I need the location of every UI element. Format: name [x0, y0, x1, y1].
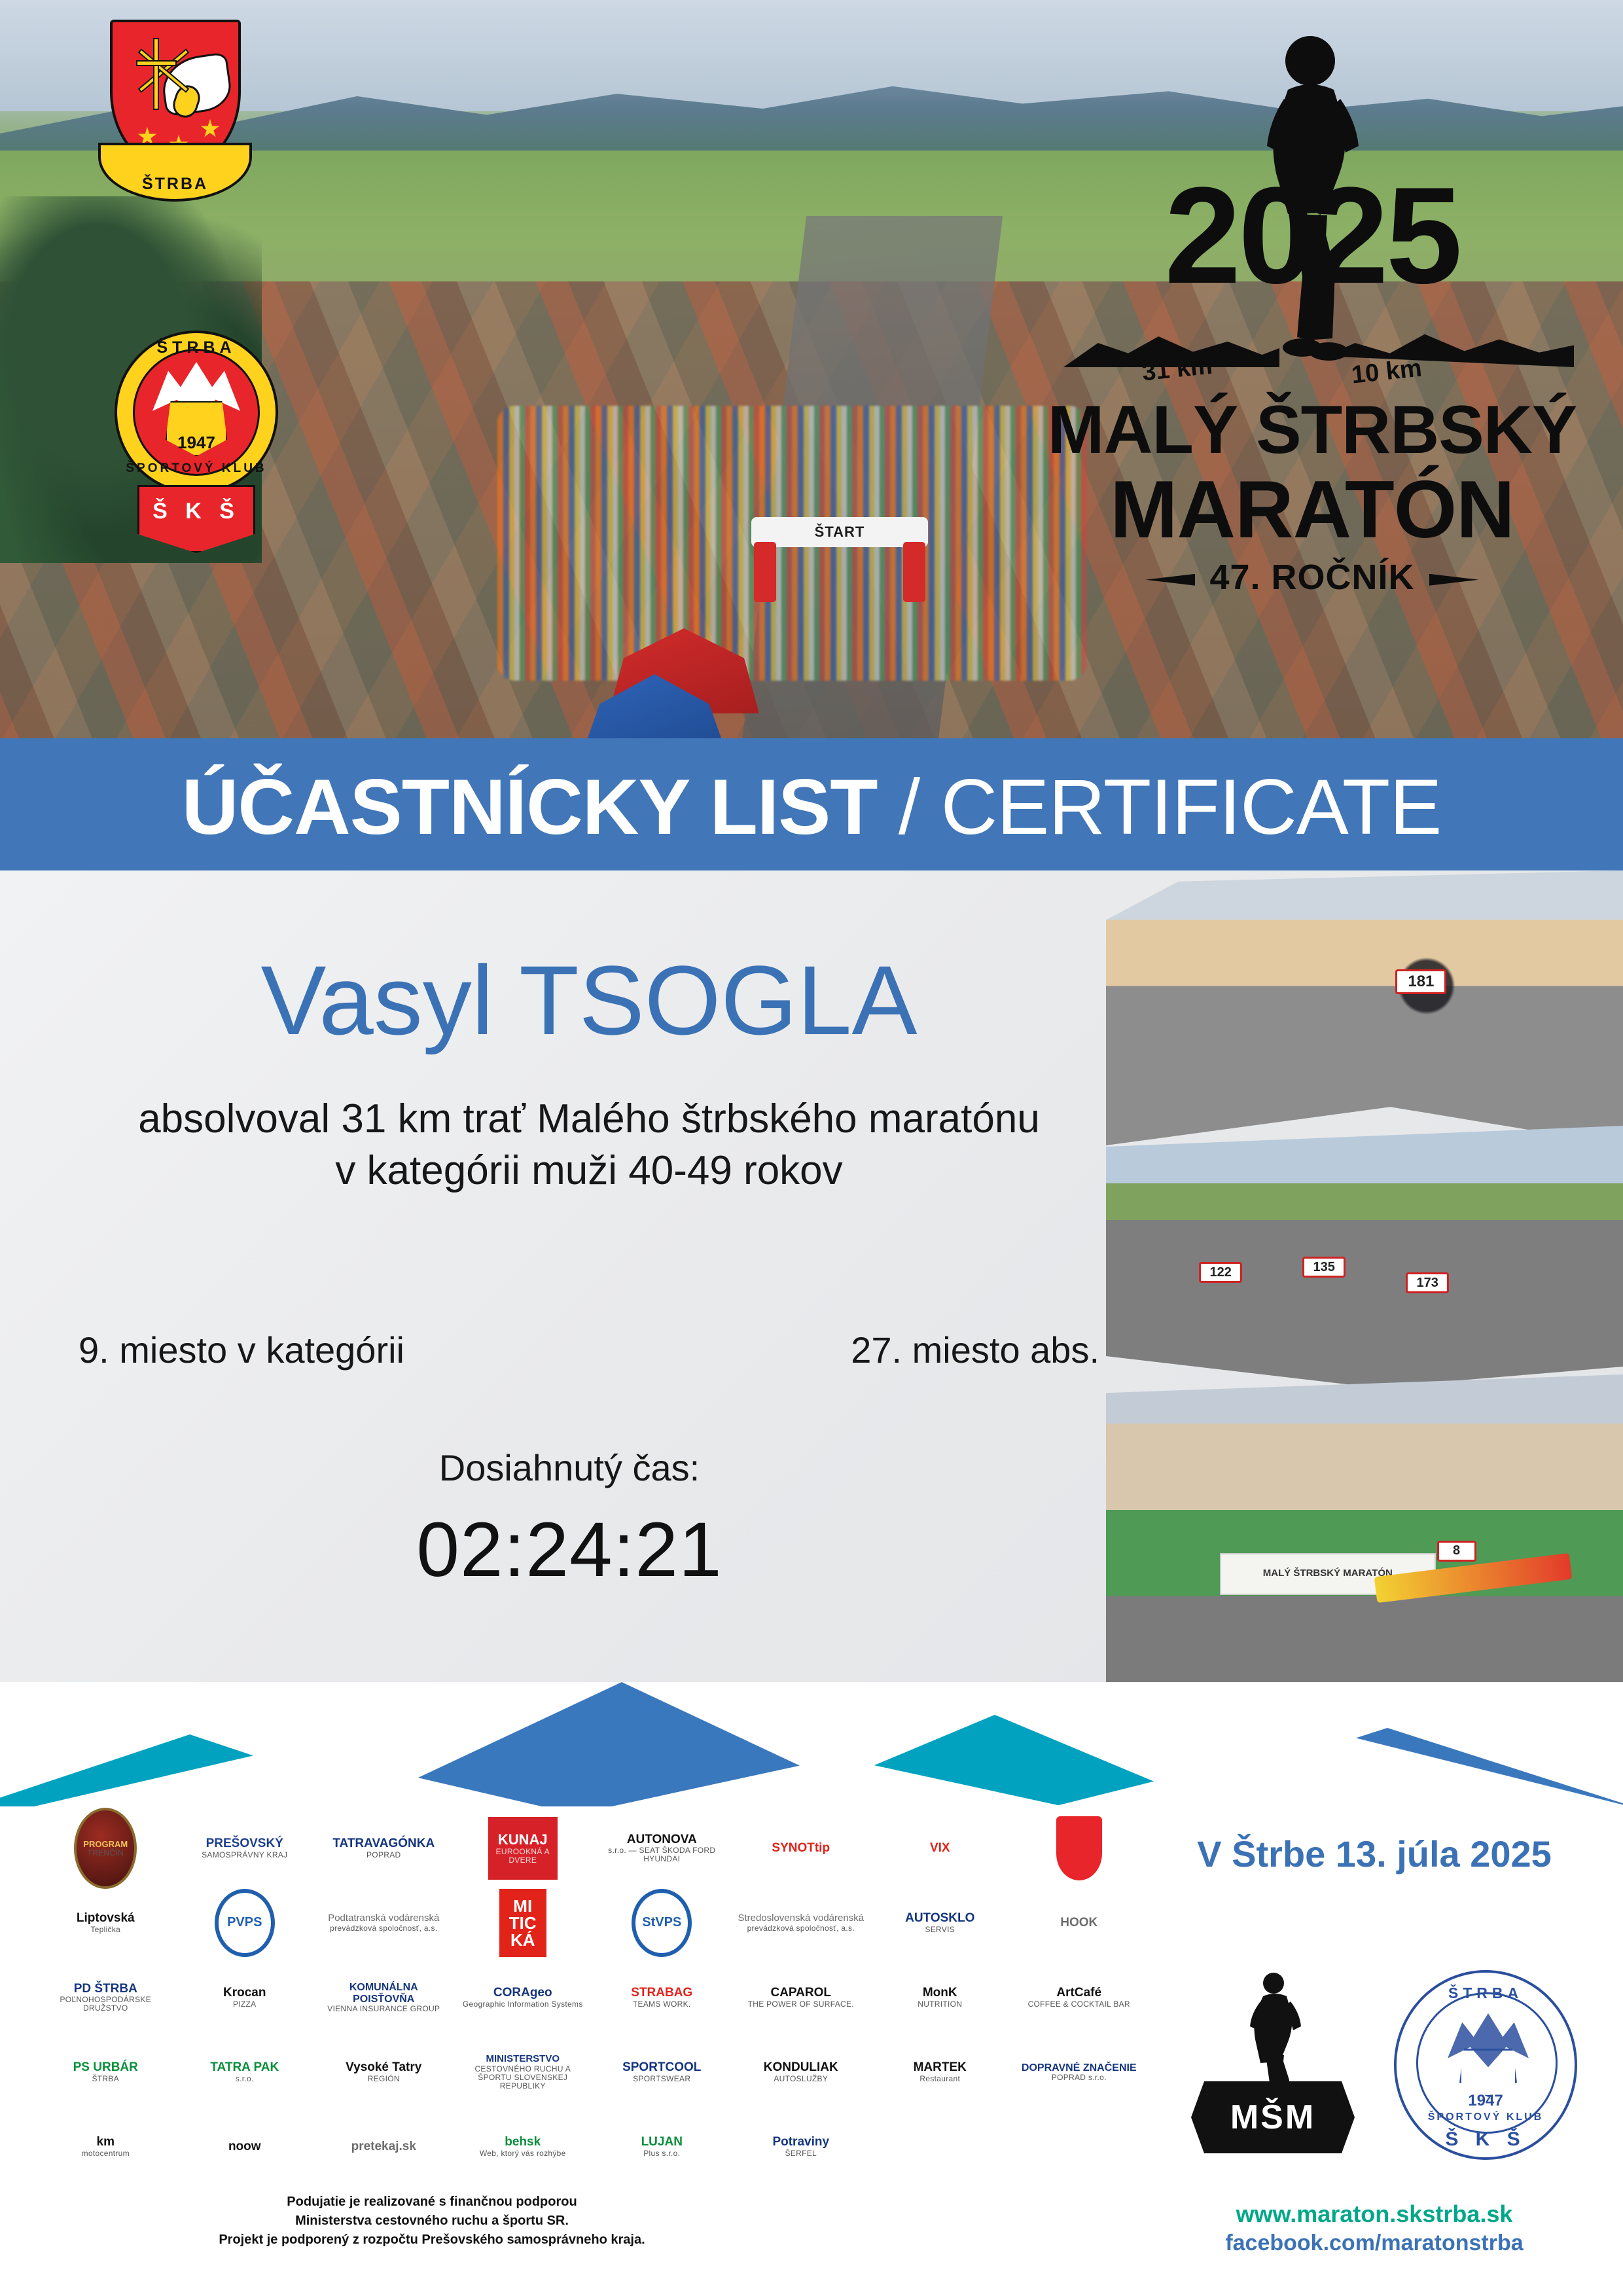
sponsor-logo: CORAgeoGeographic Information Systems	[461, 1985, 584, 2009]
sponsor-name: MonK	[923, 1986, 957, 2000]
sports-club-crest: ŠTRBA 1947 ŠPORTOVÝ KLUB Š K Š	[101, 331, 291, 592]
sponsor-name: MINISTERSTVO	[486, 2053, 560, 2064]
sponsor-name: VIX	[930, 1842, 950, 1856]
certificate-description-line1: absolvoval 31 km trať Malého štrbského m…	[59, 1093, 1119, 1145]
event-name-line2: MARATÓN	[1037, 469, 1587, 550]
sponsor-name: KOMUNÁLNA POISŤOVŇA	[349, 1982, 418, 2004]
stamp-year: 1947	[1397, 2092, 1575, 2110]
footer-right-block: V Štrbe 13. júla 2025 47. MŠM	[1145, 1806, 1603, 2296]
stamp-bottom-label: ŠPORTOVÝ KLUB	[1397, 2111, 1575, 2123]
sponsor-sub: s.r.o.	[210, 2075, 279, 2083]
footer-links: www.maraton.skstrba.sk facebook.com/mara…	[1145, 2199, 1603, 2258]
marathon-event-logo: 2025 31 km 10 km MALÝ ŠTRBSKÝ MARATÓN 47…	[1037, 29, 1587, 605]
sponsor-logo: SYNOTtip	[770, 1840, 831, 1857]
sponsor-logo: Vysoké TatryREGIÓN	[344, 2060, 423, 2084]
bib-number: 181	[1395, 969, 1446, 994]
sponsor-logo: AUTONOVAs.r.o. — SEAT ŠKODA FORD HYUNDAI	[596, 1832, 728, 1865]
sponsor-name: ArtCafé	[1056, 1986, 1101, 2000]
sponsor-name: Stredoslovenská vodárenská	[738, 1912, 864, 1924]
sponsor-sub: SERVIS	[905, 1926, 974, 1934]
sponsor-sub: SAMOSPRÁVNY KRAJ	[202, 1851, 287, 1859]
sponsor-name: Liptovská	[77, 1911, 135, 1925]
sponsor-sub: SPORTSWEAR	[622, 2075, 701, 2083]
sponsor-name: CORAgeo	[493, 1986, 552, 2000]
sponsor-logo: behskWeb, ktorý vás rozhýbe	[478, 2134, 567, 2159]
time-label: Dosiahnutý čas:	[79, 1446, 1060, 1489]
sponsor-logo: DOPRAVNÉ ZNAČENIEPOPRAD s.r.o.	[1020, 2061, 1138, 2083]
sponsor-sub: Teplička	[77, 1926, 135, 1934]
sponsor-name: LUJAN	[641, 2135, 683, 2149]
place-absolute: 27. miesto abs.	[851, 1329, 1099, 1371]
sponsor-sub: CESTOVNÉHO RUCHU A ŠPORTU SLOVENSKEJ REP…	[458, 2065, 588, 2090]
sponsor-logo: Podtatranská vodárenskáprevádzková spolo…	[327, 1912, 440, 1933]
sponsor-name: KONDULIAK	[764, 2060, 838, 2074]
sponsor-name: STRABAG	[631, 1986, 692, 2000]
sponsor-name: DOPRAVNÉ ZNAČENIE	[1022, 2062, 1137, 2073]
sponsor-sub: POĽNOHOSPODÁRSKE DRUŽSTVO	[41, 1996, 171, 2013]
event-edition: 47. ROČNÍK	[1037, 557, 1587, 598]
hero-photo: ŠTART ŠTRBA ŠTRBA	[0, 0, 1623, 772]
sponsor-logo: KUNAJEUROOKNÁ A DVERE	[488, 1817, 558, 1880]
sponsor-logo: MINISTERSTVOCESTOVNÉHO RUCHU A ŠPORTU SL…	[457, 2053, 590, 2091]
placement-row: 9. miesto v kategórii 27. miesto abs.	[79, 1329, 1099, 1371]
sponsor-logo: KONDULIAKAUTOSLUŽBY	[762, 2060, 840, 2084]
sponsor-name: PS URBÁR	[73, 2060, 138, 2074]
sponsor-name: PREŠOVSKÝ	[206, 1837, 283, 1850]
sponsor-sub: ŠTRBA	[73, 2075, 138, 2083]
sponsor-name: noow	[228, 2140, 261, 2154]
club-year-label: 1947	[115, 433, 278, 453]
sponsor-logo: MI TIC KÁ	[499, 1889, 546, 1957]
start-arch-label: ŠTART	[751, 517, 928, 547]
sponsor-logo: HOOK	[1059, 1915, 1099, 1931]
title-separator: /	[878, 763, 941, 851]
cross-bar-icon	[136, 60, 177, 66]
title-english: CERTIFICATE	[941, 763, 1442, 851]
sponsor-name: AUTONOVA	[627, 1833, 697, 1846]
certificate-page: ŠTART ŠTRBA ŠTRBA	[0, 0, 1623, 2296]
sponsor-sub: motocentrum	[82, 2149, 130, 2158]
sponsor-name: PVPS	[227, 1916, 262, 1930]
sponsor-logo: PVPS	[215, 1889, 275, 1957]
facebook-url[interactable]: facebook.com/maratonstrba	[1145, 2229, 1603, 2258]
sponsor-sub: POPRAD s.r.o.	[1022, 2073, 1137, 2082]
sponsor-name: MI TIC KÁ	[501, 1897, 545, 1948]
sponsor-name: Podtatranská vodárenská	[328, 1912, 439, 1924]
sponsor-sub: VIENNA INSURANCE GROUP	[319, 2005, 449, 2013]
sponsor-logo: TATRAVAGÓNKAPOPRAD	[331, 1836, 436, 1860]
arch-leg-left	[754, 542, 776, 602]
title-slovak: ÚČASTNÍCKY LIST	[182, 763, 878, 851]
sponsor-name: CAPAROL	[770, 1986, 831, 2000]
stamp-top-label: ŠTRBA	[1397, 1984, 1575, 2002]
sponsor-name: StVPS	[642, 1916, 681, 1930]
sponsor-logo: MARTEKRestaurant	[912, 2060, 968, 2084]
strba-town-crest: ŠTRBA	[98, 20, 252, 216]
sponsor-sub: NUTRITION	[918, 2000, 962, 2009]
sponsor-name: AUTOSKLO	[905, 1911, 974, 1925]
sponsor-name: PROGRAM	[83, 1840, 128, 1849]
sponsor-sub: Web, ktorý vás rozhýbe	[480, 2149, 566, 2158]
club-top-label: ŠTRBA	[115, 338, 278, 357]
sponsor-logo: LiptovskáTeplička	[75, 1910, 136, 1935]
sponsor-name: SYNOTtip	[772, 1842, 830, 1856]
sponsor-name: HOOK	[1060, 1916, 1097, 1930]
sponsor-name: behsk	[505, 2135, 541, 2149]
sponsor-sub: Plus s.r.o.	[641, 2149, 683, 2158]
sponsor-logo: PotravinyŠERFEL	[771, 2134, 830, 2159]
footer: PROGRAMTRENČÍN PREŠOVSKÝSAMOSPRÁVNY KRAJ…	[0, 1806, 1623, 2296]
cross-icon	[153, 38, 159, 110]
sponsor-logo: STRABAGTEAMS WORK.	[630, 1985, 694, 2009]
sponsor-sub: prevádzková spoločnosť, a.s.	[738, 1924, 864, 1933]
sponsor-sub: PIZZA	[223, 2000, 266, 2009]
sponsor-name: Vysoké Tatry	[346, 2060, 421, 2074]
sponsor-logo: KrocanPIZZA	[222, 1985, 267, 2009]
event-name-line1: MALÝ ŠTRBSKÝ	[1037, 396, 1587, 464]
sponsor-name: MARTEK	[914, 2060, 967, 2074]
sponsor-logo: PS URBÁRŠTRBA	[72, 2060, 139, 2084]
sponsor-logo: MonKNUTRITION	[916, 1985, 963, 2009]
sponsor-sub: s.r.o. — SEAT ŠKODA FORD HYUNDAI	[597, 1846, 727, 1863]
sponsor-logo: SPORTCOOLSPORTSWEAR	[621, 2060, 702, 2084]
sponsor-name: KUNAJ	[498, 1832, 548, 1848]
sponsor-sub: COFFEE & COCKTAIL BAR	[1028, 2000, 1130, 2009]
sponsor-logo: TATRA PAKs.r.o.	[209, 2060, 280, 2084]
funding-note-line2: Ministerstva cestovného ruchu a športu S…	[46, 2212, 818, 2231]
sponsor-sub: POPRAD	[332, 1851, 435, 1859]
stamp-initials: Š K Š	[1397, 2128, 1575, 2151]
sponsor-logo: PD ŠTRBAPOĽNOHOSPODÁRSKE DRUŽSTVO	[39, 1981, 172, 2014]
town-ribbon-label: ŠTRBA	[98, 143, 252, 202]
sponsor-sub: Restaurant	[914, 2075, 967, 2083]
sponsor-name: Krocan	[223, 1986, 266, 2000]
distance-short-label: 10 km	[1350, 354, 1423, 389]
bib-number: 135	[1302, 1257, 1346, 1278]
sponsor-logo: kmmotocentrum	[80, 2134, 131, 2159]
sponsor-logo: PREŠOVSKÝSAMOSPRÁVNY KRAJ	[200, 1836, 289, 1860]
funding-note-line3: Projekt je podporený z rozpočtu Prešovsk…	[46, 2231, 818, 2250]
photo-collage: 181 122 135 173 MALÝ ŠTRBSKÝ MARATÓN 8	[1106, 870, 1623, 1682]
distance-ridges: 31 km 10 km	[1050, 317, 1574, 389]
sponsor-logo: AUTOSKLOSERVIS	[904, 1910, 976, 1935]
sponsor-name: TATRAVAGÓNKA	[332, 1837, 435, 1850]
sponsor-name: km	[97, 2135, 115, 2149]
event-year: 2025	[1037, 167, 1587, 304]
club-bottom-label: ŠPORTOVÝ KLUB	[115, 461, 278, 476]
bib-number: 8	[1437, 1541, 1476, 1562]
certificate-title: ÚČASTNÍCKY LIST / CERTIFICATE	[182, 762, 1441, 852]
place-in-category: 9. miesto v kategórii	[79, 1329, 404, 1371]
sponsor-logo: LUJANPlus s.r.o.	[640, 2134, 684, 2159]
sponsor-sub: THE POWER OF SURFACE.	[748, 2000, 854, 2009]
club-initials-label: Š K Š	[137, 485, 255, 553]
sponsor-sub: Geographic Information Systems	[463, 2000, 583, 2009]
website-url[interactable]: www.maraton.skstrba.sk	[1145, 2199, 1603, 2229]
sponsor-sub: prevádzková spoločnosť, a.s.	[328, 1924, 439, 1933]
club-stamp: ŠTRBA 1947 ŠPORTOVÝ KLUB Š K Š	[1394, 1970, 1577, 2160]
issue-date: V Štrbe 13. júla 2025	[1145, 1833, 1603, 1875]
funding-note-line1: Podujatie je realizované s finančnou pod…	[46, 2193, 818, 2212]
sponsor-logo: CAPAROLTHE POWER OF SURFACE.	[747, 1985, 855, 2009]
sponsor-logo: VIX	[929, 1840, 952, 1857]
sponsor-logo: Stredoslovenská vodárenskáprevádzková sp…	[736, 1912, 865, 1933]
sponsor-logo: pretekaj.sk	[350, 2139, 418, 2155]
sponsor-logo-grid: PROGRAMTRENČÍN PREŠOVSKÝSAMOSPRÁVNY KRAJ…	[39, 1813, 1145, 2182]
star-icon	[200, 119, 220, 139]
sponsor-sub: TEAMS WORK.	[631, 2000, 692, 2009]
sponsor-sub: EUROOKNÁ A DVERE	[490, 1848, 556, 1865]
sponsor-name: PD ŠTRBA	[74, 1982, 137, 1996]
sponsor-name: Potraviny	[772, 2135, 829, 2149]
sponsor-logo	[1056, 1816, 1102, 1880]
sponsor-name: TATRA PAK	[210, 2060, 279, 2074]
photo-finisher: 181	[1106, 870, 1623, 1145]
sponsor-logo: StVPS	[632, 1889, 692, 1957]
sponsor-logo: KOMUNÁLNA POISŤOVŇAVIENNA INSURANCE GROU…	[317, 1981, 450, 2014]
funding-note: Podujatie je realizované s finančnou pod…	[46, 2193, 818, 2250]
photo-course-runners: 122 135 173	[1106, 1126, 1623, 1388]
sponsor-logo: noow	[227, 2139, 262, 2155]
certificate-description-line2: v kategórii muži 40-49 rokov	[59, 1145, 1119, 1196]
sponsor-name: pretekaj.sk	[351, 2140, 416, 2154]
sponsor-name: SPORTCOOL	[622, 2060, 701, 2074]
mountain-divider	[0, 1617, 1623, 1833]
athlete-name: Vasyl TSOGLA	[59, 949, 1119, 1052]
finish-time: 02:24:21	[79, 1505, 1060, 1594]
sponsor-sub: AUTOSLUŽBY	[764, 2075, 838, 2083]
sponsor-sub: REGIÓN	[346, 2075, 421, 2083]
certificate-title-banner: ÚČASTNÍCKY LIST / CERTIFICATE	[0, 738, 1623, 876]
sponsor-sub: ŠERFEL	[772, 2149, 829, 2158]
sponsor-logo: ArtCaféCOFFEE & COCKTAIL BAR	[1027, 1985, 1132, 2009]
sponsor-logo: PROGRAMTRENČÍN	[74, 1808, 137, 1889]
bib-number: 122	[1199, 1262, 1242, 1283]
msm-initials: MŠM	[1191, 2081, 1355, 2153]
bib-number: 173	[1406, 1272, 1449, 1293]
arch-leg-right	[903, 542, 925, 602]
msm-logo: 47. MŠM	[1191, 1970, 1355, 2160]
certificate-text-block: Vasyl TSOGLA absolvoval 31 km trať Maléh…	[59, 949, 1119, 1196]
sponsor-sub: TRENČÍN	[88, 1849, 124, 1857]
start-arch: ŠTART	[751, 517, 928, 602]
